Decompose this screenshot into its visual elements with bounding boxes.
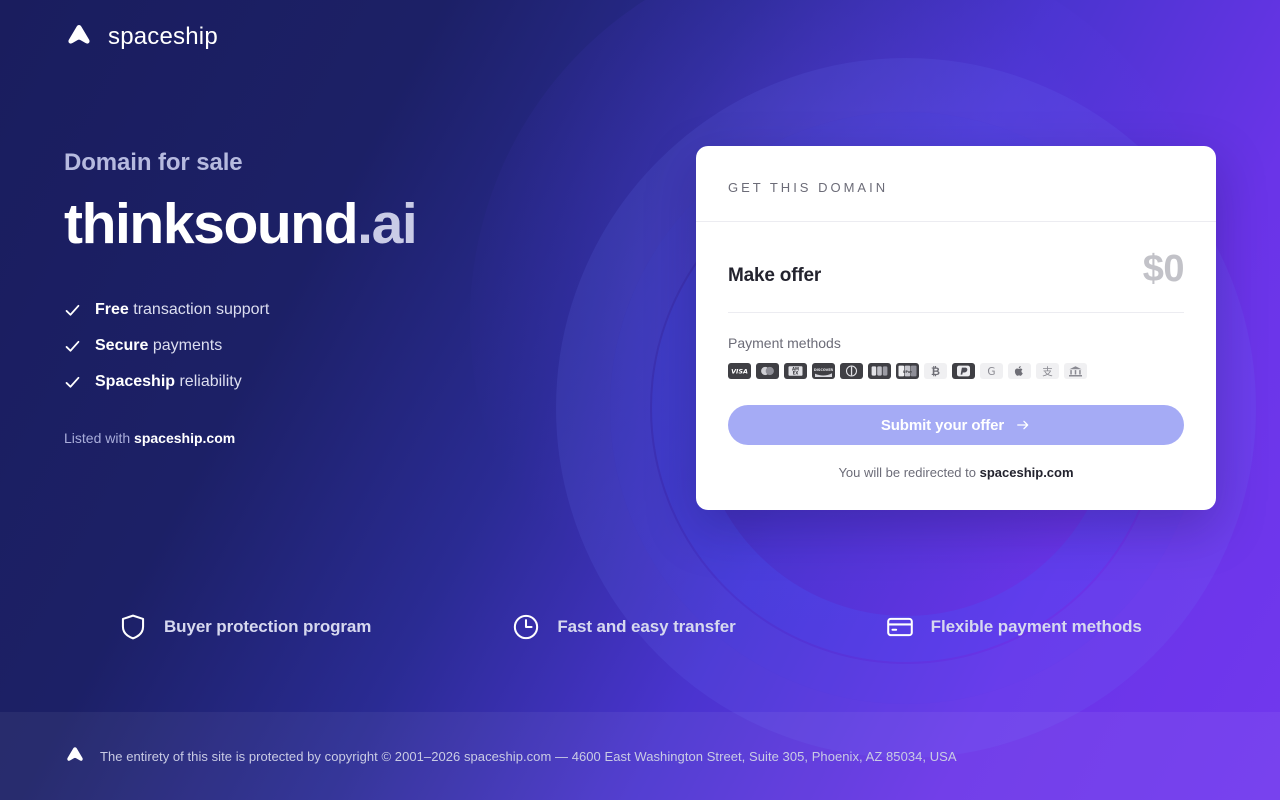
payment-methods-list: VISA AMEX DISCOVER UPay [728, 363, 1184, 379]
list-item: Secure payments [64, 328, 624, 364]
feature-text: Free transaction support [95, 292, 269, 328]
hero-section: Domain for sale thinksound.ai Free trans… [64, 146, 624, 446]
feature-list: Free transaction support Secure payments… [64, 292, 624, 400]
clock-icon [511, 612, 541, 642]
domain-for-sale-page: spaceship Domain for sale thinksound.ai … [0, 0, 1280, 800]
redirect-prefix: You will be redirected to [838, 465, 979, 480]
visa-icon: VISA [728, 363, 751, 379]
trust-item-label: Buyer protection program [164, 617, 371, 637]
svg-text:DISCOVER: DISCOVER [814, 368, 834, 372]
trust-item-label: Fast and easy transfer [557, 617, 735, 637]
trust-item-label: Flexible payment methods [931, 617, 1142, 637]
domain-sld: thinksound [64, 192, 357, 256]
feature-text: Spaceship reliability [95, 364, 242, 400]
spaceship-logo-icon[interactable] [64, 22, 94, 52]
mastercard-icon [756, 363, 779, 379]
arrow-right-icon [1015, 417, 1031, 433]
discover-icon: DISCOVER [812, 363, 835, 379]
submit-offer-button[interactable]: Submit your offer [728, 405, 1184, 445]
svg-text:G: G [987, 366, 995, 378]
spaceship-logo-icon [64, 745, 86, 767]
shield-icon [118, 612, 148, 642]
feature-rest: reliability [175, 373, 242, 390]
site-header: spaceship [64, 22, 218, 52]
page-title: Domain for sale [64, 146, 624, 180]
offer-card-header: GET THIS DOMAIN [696, 146, 1216, 222]
diners-club-icon [840, 363, 863, 379]
unionpay-icon: UPay [896, 363, 919, 379]
svg-text:EX: EX [793, 370, 799, 375]
payment-methods-label: Payment methods [728, 335, 1184, 351]
offer-card-body: Make offer $0 Payment methods VISA AMEX … [696, 222, 1216, 510]
check-icon [64, 338, 81, 355]
footer-content: The entirety of this site is protected b… [0, 745, 957, 767]
domain-name-heading: thinksound.ai [64, 192, 624, 256]
offer-price-value: $0 [1143, 250, 1184, 288]
list-item: Free transaction support [64, 292, 624, 328]
trust-item-buyer-protection: Buyer protection program [64, 612, 449, 642]
jcb-icon [868, 363, 891, 379]
listed-with-brand[interactable]: spaceship.com [134, 430, 235, 446]
list-item: Spaceship reliability [64, 364, 624, 400]
feature-rest: payments [148, 337, 222, 354]
svg-text:₿: ₿ [931, 365, 940, 378]
domain-tld: .ai [357, 192, 416, 256]
trust-item-flexible-payments: Flexible payment methods [843, 612, 1216, 642]
copyright-text: The entirety of this site is protected b… [100, 749, 957, 764]
google-pay-icon: G [980, 363, 1003, 379]
alipay-icon: 支 [1036, 363, 1059, 379]
feature-rest: transaction support [129, 301, 270, 318]
offer-summary-row: Make offer $0 [728, 250, 1184, 313]
listed-with-prefix: Listed with [64, 430, 134, 446]
bitcoin-icon: ₿ [924, 363, 947, 379]
feature-strong: Free [95, 301, 129, 318]
feature-strong: Spaceship [95, 373, 175, 390]
feature-text: Secure payments [95, 328, 222, 364]
svg-text:VISA: VISA [731, 368, 748, 376]
credit-card-icon [885, 612, 915, 642]
site-footer: The entirety of this site is protected b… [0, 712, 1280, 800]
make-offer-label: Make offer [728, 265, 821, 287]
trust-item-fast-transfer: Fast and easy transfer [449, 612, 842, 642]
apple-pay-icon [1008, 363, 1031, 379]
svg-text:支: 支 [1042, 366, 1053, 378]
svg-text:UPay: UPay [903, 370, 913, 374]
amex-icon: AMEX [784, 363, 807, 379]
check-icon [64, 302, 81, 319]
offer-card-eyebrow: GET THIS DOMAIN [728, 180, 1184, 195]
redirect-brand: spaceship.com [980, 465, 1074, 480]
bank-transfer-icon [1064, 363, 1087, 379]
offer-card: GET THIS DOMAIN Make offer $0 Payment me… [696, 146, 1216, 510]
check-icon [64, 374, 81, 391]
feature-strong: Secure [95, 337, 148, 354]
paypal-icon [952, 363, 975, 379]
redirect-note: You will be redirected to spaceship.com [728, 465, 1184, 480]
trust-strip: Buyer protection program Fast and easy t… [64, 612, 1216, 642]
brand-name: spaceship [108, 23, 218, 51]
submit-offer-label: Submit your offer [881, 417, 1004, 434]
listed-with: Listed with spaceship.com [64, 430, 624, 446]
